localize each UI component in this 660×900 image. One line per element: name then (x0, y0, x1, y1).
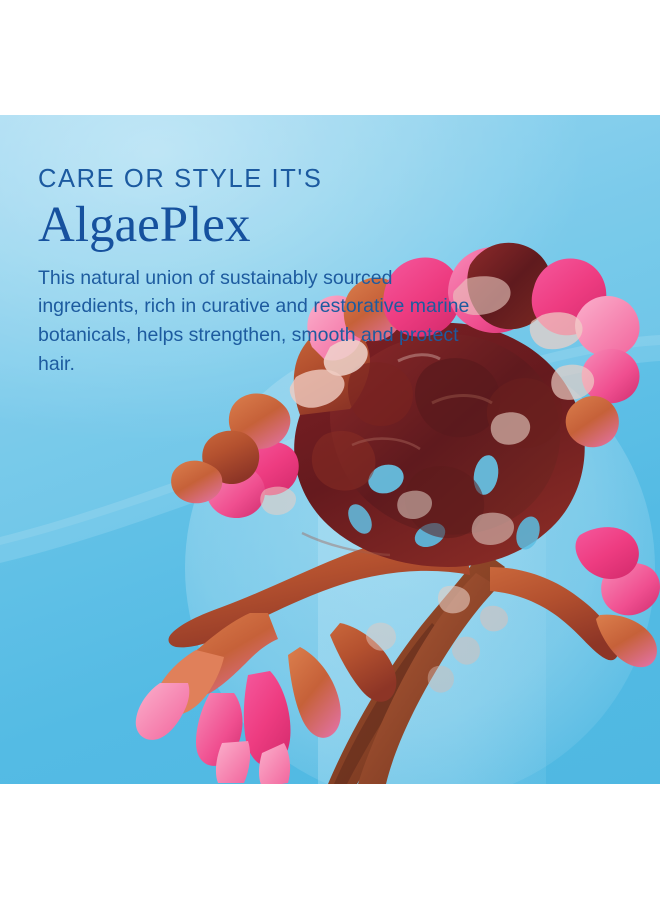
blue-gradient-panel: CARE OR STYLE IT'S AlgaePlex This natura… (0, 115, 660, 784)
vertical-light-band (318, 445, 546, 784)
algaeplex-promo-banner: CARE OR STYLE IT'S AlgaePlex This natura… (0, 0, 660, 900)
eyebrow-heading: CARE OR STYLE IT'S (38, 167, 508, 193)
copy-block: CARE OR STYLE IT'S AlgaePlex This natura… (38, 167, 508, 378)
description-paragraph: This natural union of sustainably source… (38, 264, 478, 379)
brand-title: AlgaePlex (38, 199, 508, 252)
circular-halo-backdrop (185, 333, 655, 784)
